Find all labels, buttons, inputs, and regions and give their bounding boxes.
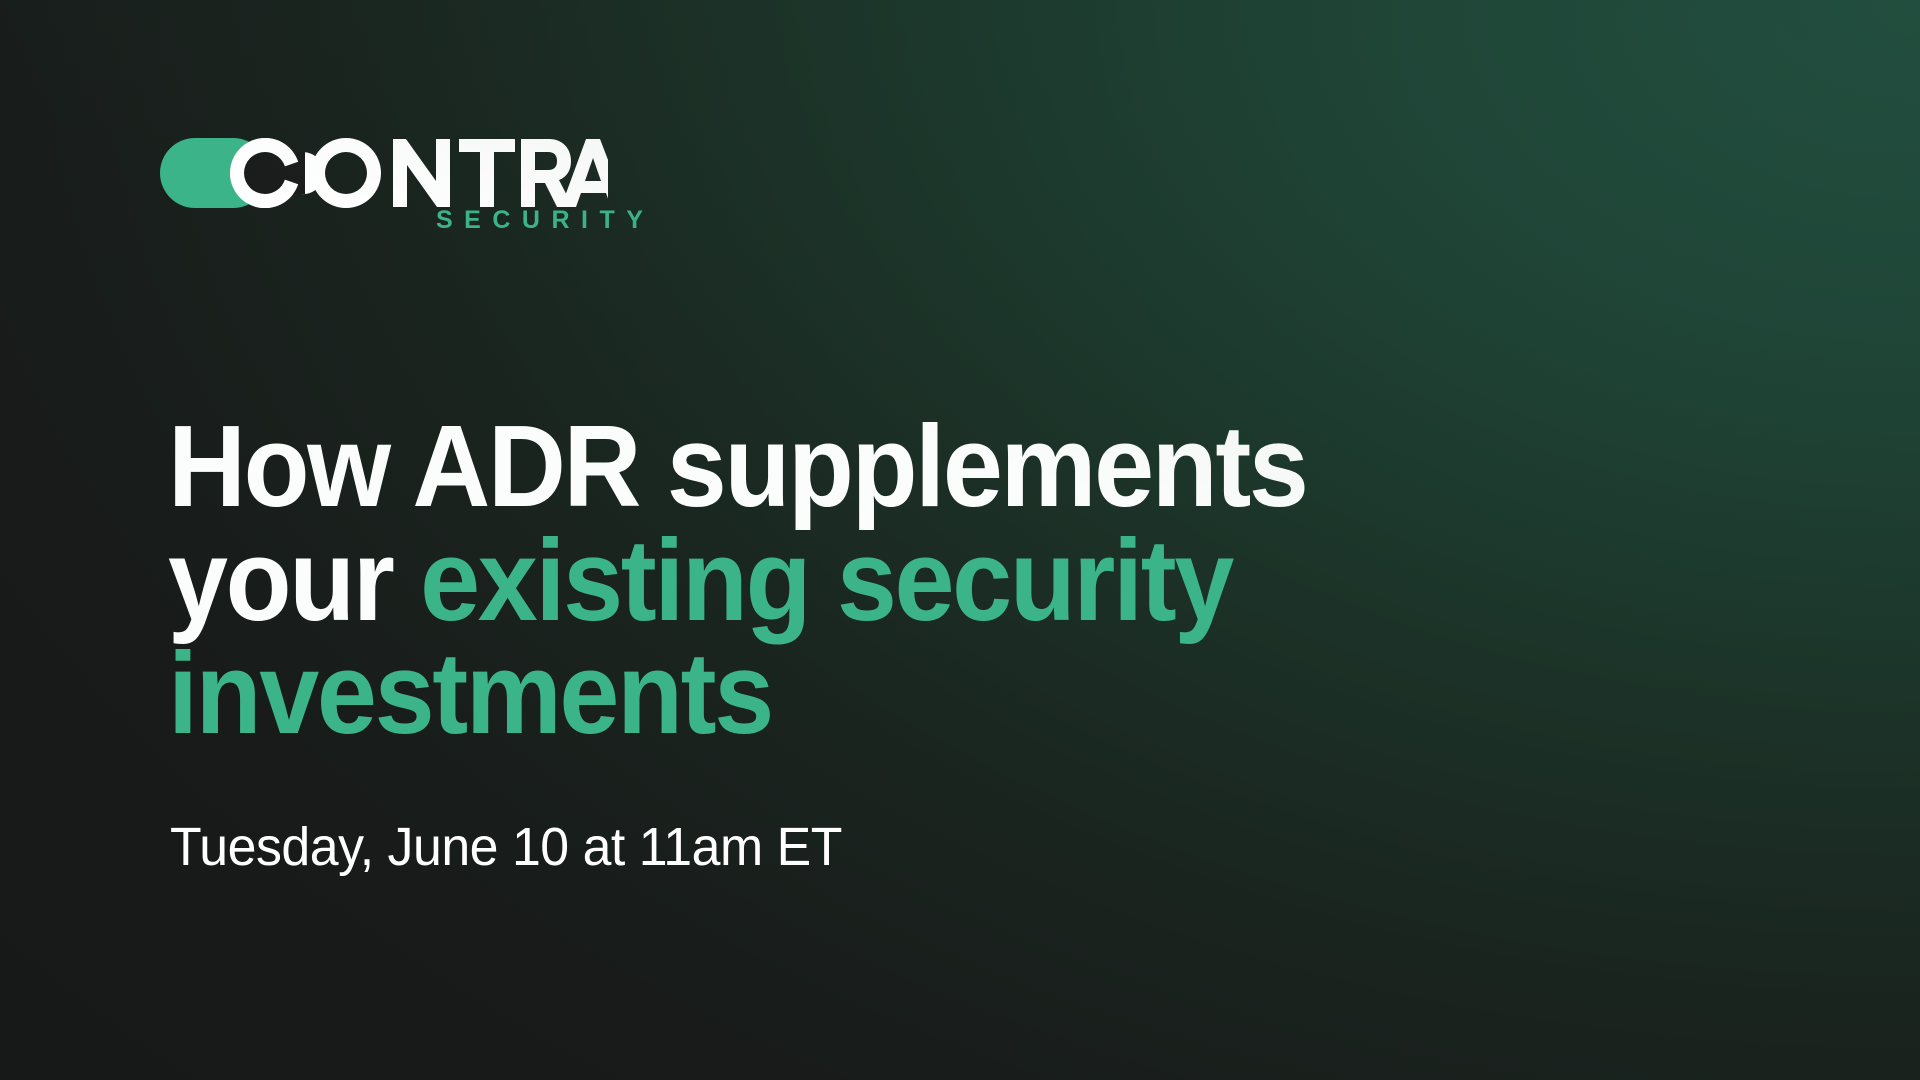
headline-line-1: How ADR supplements — [168, 410, 1470, 524]
headline-line-2-green-text: existing security — [420, 515, 1232, 645]
headline-line-2: your existing security — [168, 524, 1470, 638]
headline-line-3-green-text: investments — [168, 628, 772, 758]
contrast-wordmark-svg — [160, 138, 608, 208]
contrast-wordmark — [160, 138, 608, 208]
headline-line-3: investments — [168, 637, 1470, 751]
headline-line-1-text: How ADR supplements — [168, 401, 1307, 531]
contrast-security-logo[interactable]: SECURITY — [160, 138, 620, 248]
headline-line-2-white-text: your — [168, 515, 420, 645]
event-datetime: Tuesday, June 10 at 11am ET — [170, 818, 842, 877]
webinar-title-slide: SECURITY How ADR supplements your existi… — [0, 0, 1920, 1080]
page-title: How ADR supplements your existing securi… — [168, 410, 1470, 751]
logo-subtitle: SECURITY — [436, 208, 654, 233]
